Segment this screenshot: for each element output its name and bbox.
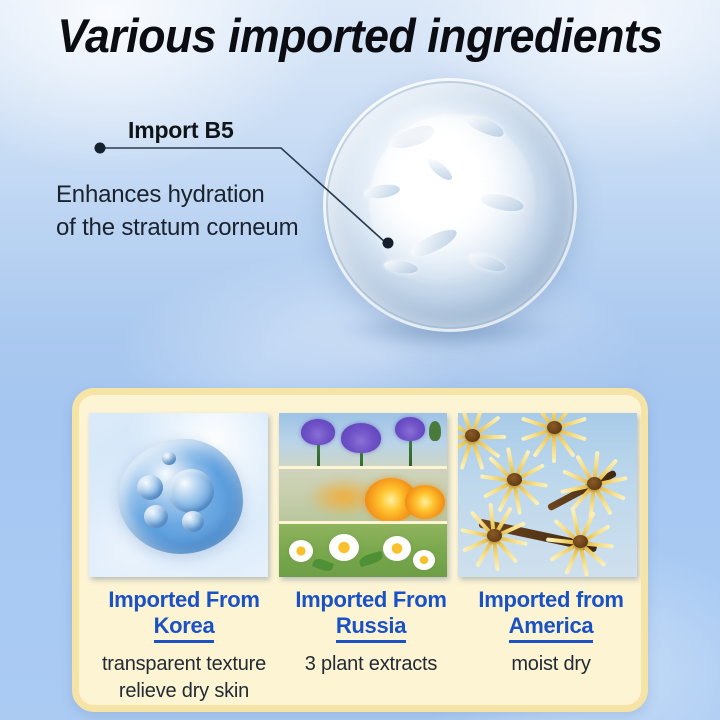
chamomile-leaf <box>358 551 384 567</box>
blue-gel-photo <box>89 413 268 577</box>
caption-sub-line-1: transparent texture <box>87 651 281 678</box>
caption-russia: Imported From Russia 3 plant extracts <box>281 587 461 705</box>
page-title: Various imported ingredients <box>18 8 702 64</box>
marigold-photo <box>279 469 447 522</box>
ingredient-image-row <box>89 413 639 577</box>
cornflower-photo <box>279 413 447 466</box>
gel-bubble <box>168 469 214 513</box>
cornflower-head <box>395 417 425 441</box>
chamomile-flower <box>383 536 411 561</box>
caption-sub-russia: 3 plant extracts <box>281 651 461 678</box>
caption-sub-america: moist dry <box>461 651 641 678</box>
chamomile-flower <box>329 534 359 561</box>
witch-hazel-photo <box>458 413 637 577</box>
callout-label: Import B5 <box>128 117 234 144</box>
caption-america: Imported from America moist dry <box>461 587 641 705</box>
caption-heading-america: Imported from America <box>461 587 641 643</box>
cornflower-stem <box>360 453 363 466</box>
cornflower-head <box>301 419 335 445</box>
cornflower-stem <box>409 441 412 466</box>
cornflower <box>341 423 381 466</box>
chamomile-flower <box>413 550 435 570</box>
bud-shape <box>429 421 441 441</box>
caption-country: Russia <box>336 613 406 643</box>
chamomile-photo <box>279 524 447 577</box>
orb-rim <box>323 78 577 332</box>
cornflower <box>301 419 335 466</box>
caption-row: Imported From Korea transparent texture … <box>87 587 641 705</box>
callout-description: Enhances hydration of the stratum corneu… <box>56 178 298 244</box>
cornflower-stem <box>317 445 320 466</box>
leader-start-dot <box>95 143 106 154</box>
caption-sub-korea: transparent texture relieve dry skin <box>87 651 281 705</box>
ingredient-image-korea <box>89 413 268 577</box>
ingredient-image-america <box>458 413 637 577</box>
caption-prefix: Imported From <box>295 587 446 612</box>
ingredient-origin-card: Imported From Korea transparent texture … <box>72 388 648 712</box>
caption-country: America <box>509 613 594 643</box>
caption-country: Korea <box>154 613 215 643</box>
chamomile-leaf <box>312 557 334 574</box>
cornflower-head <box>341 423 381 453</box>
chamomile-flower <box>289 540 313 562</box>
callout-description-line-1: Enhances hydration <box>56 178 298 211</box>
caption-heading-russia: Imported From Russia <box>281 587 461 643</box>
callout-description-line-2: of the stratum corneum <box>56 211 298 244</box>
caption-prefix: Imported from <box>478 587 623 612</box>
caption-sub-line-2: relieve dry skin <box>87 678 281 705</box>
cornflower-bud <box>429 421 441 441</box>
caption-prefix: Imported From <box>108 587 259 612</box>
caption-sub-line-1: 3 plant extracts <box>281 651 461 678</box>
caption-korea: Imported From Korea transparent texture … <box>87 587 281 705</box>
glass-sphere-image <box>323 78 577 332</box>
marigold-head <box>405 485 445 519</box>
caption-heading-korea: Imported From Korea <box>87 587 281 643</box>
ingredient-image-russia <box>279 413 447 577</box>
cornflower <box>395 417 425 466</box>
product-infographic: Various imported ingredients Import B5 E… <box>0 0 720 720</box>
caption-sub-line-1: moist dry <box>461 651 641 678</box>
